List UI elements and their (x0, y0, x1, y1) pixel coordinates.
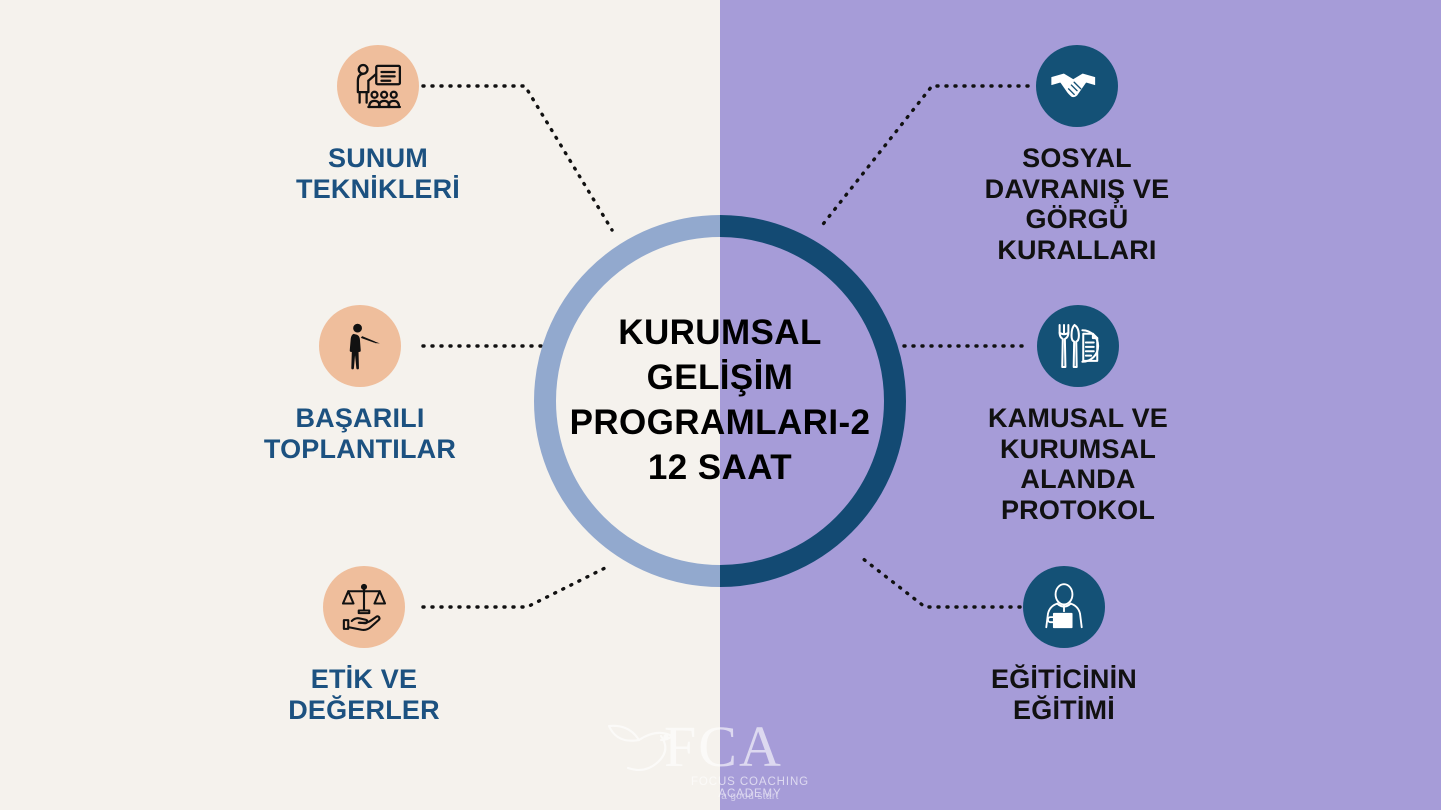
center-title-block: KURUMSAL GELİŞİM PROGRAMLARI-2 12 SAAT (534, 215, 906, 587)
node-label-basarili: BAŞARILI TOPLANTILAR (264, 403, 456, 464)
center-title-line-2: GELİŞİM (647, 356, 794, 401)
presentation-board-audience-icon (337, 45, 419, 127)
node-basarili-toplantilar[interactable]: BAŞARILI TOPLANTILAR (190, 305, 530, 464)
node-kamusal-ve-kurumsal-alanda-protokol[interactable]: KAMUSAL VE KURUMSAL ALANDA PROTOKOL (908, 305, 1248, 525)
node-etik-ve-degerler[interactable]: ETİK VE DEĞERLER (194, 566, 534, 725)
node-label-kamusal: KAMUSAL VE KURUMSAL ALANDA PROTOKOL (988, 403, 1168, 525)
node-label-etik: ETİK VE DEĞERLER (288, 664, 440, 725)
infographic-canvas: KURUMSAL GELİŞİM PROGRAMLARI-2 12 SAAT (0, 0, 1441, 810)
node-sosyal-davranis-ve-gorgu-kurallari[interactable]: SOSYAL DAVRANIŞ VE GÖRGÜ KURALLARI (907, 45, 1247, 265)
center-title-line-1: KURUMSAL (618, 311, 821, 356)
node-label-sunum: SUNUM TEKNİKLERİ (296, 143, 460, 204)
fork-knife-plate-document-icon (1037, 305, 1119, 387)
trainer-with-book-icon (1023, 566, 1105, 648)
presenter-with-pointer-icon (319, 305, 401, 387)
center-title-line-3: PROGRAMLARI-2 (570, 401, 871, 446)
node-label-sosyal: SOSYAL DAVRANIŞ VE GÖRGÜ KURALLARI (985, 143, 1170, 265)
hand-holding-scales-icon (323, 566, 405, 648)
handshake-icon (1036, 45, 1118, 127)
node-egiticinin-egitimi[interactable]: EĞİTİCİNİN EĞİTİMİ (894, 566, 1234, 725)
center-title-line-4: 12 SAAT (648, 446, 792, 491)
node-sunum-teknikleri[interactable]: SUNUM TEKNİKLERİ (208, 45, 548, 204)
node-label-egiticinin: EĞİTİCİNİN EĞİTİMİ (991, 664, 1137, 725)
